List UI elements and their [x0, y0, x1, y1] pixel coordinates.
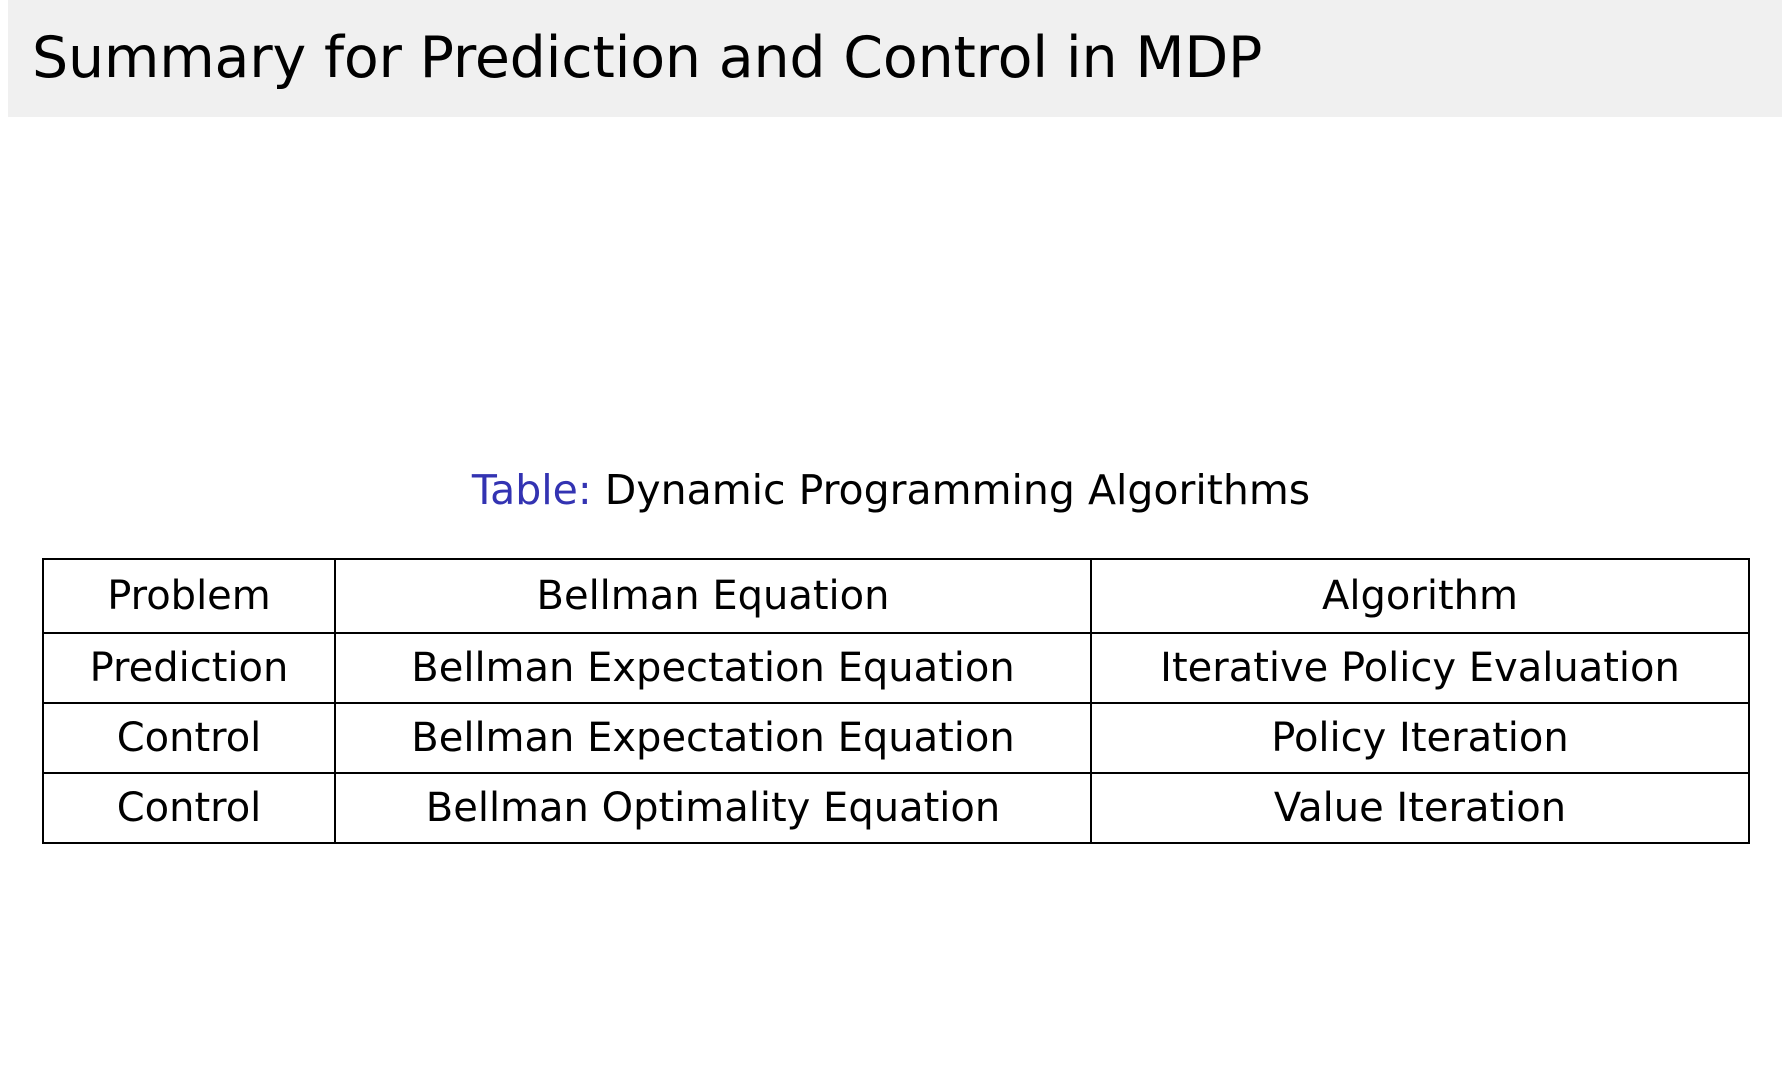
slide-content-area: Table: Dynamic Programming Algorithms Pr… [0, 117, 1782, 1080]
column-header-bellman-equation: Bellman Equation [335, 559, 1091, 633]
table-header-row: Problem Bellman Equation Algorithm [43, 559, 1749, 633]
dynamic-programming-table-wrapper: Problem Bellman Equation Algorithm Predi… [42, 558, 1748, 844]
cell-problem: Control [43, 703, 335, 773]
table-caption-text: Dynamic Programming Algorithms [592, 466, 1310, 514]
slide-title-bar: Summary for Prediction and Control in MD… [8, 0, 1782, 117]
table-body: Prediction Bellman Expectation Equation … [43, 633, 1749, 843]
table-header: Problem Bellman Equation Algorithm [43, 559, 1749, 633]
table-row: Control Bellman Expectation Equation Pol… [43, 703, 1749, 773]
page-title: Summary for Prediction and Control in MD… [32, 11, 1262, 105]
column-header-algorithm: Algorithm [1091, 559, 1749, 633]
cell-equation: Bellman Optimality Equation [335, 773, 1091, 843]
column-header-problem: Problem [43, 559, 335, 633]
table-caption-label: Table: [472, 466, 592, 514]
cell-algorithm: Value Iteration [1091, 773, 1749, 843]
cell-problem: Prediction [43, 633, 335, 703]
cell-problem: Control [43, 773, 335, 843]
table-caption: Table: Dynamic Programming Algorithms [0, 464, 1782, 516]
cell-equation: Bellman Expectation Equation [335, 633, 1091, 703]
cell-equation: Bellman Expectation Equation [335, 703, 1091, 773]
cell-algorithm: Iterative Policy Evaluation [1091, 633, 1749, 703]
cell-algorithm: Policy Iteration [1091, 703, 1749, 773]
table-row: Prediction Bellman Expectation Equation … [43, 633, 1749, 703]
dynamic-programming-table: Problem Bellman Equation Algorithm Predi… [42, 558, 1750, 844]
table-row: Control Bellman Optimality Equation Valu… [43, 773, 1749, 843]
